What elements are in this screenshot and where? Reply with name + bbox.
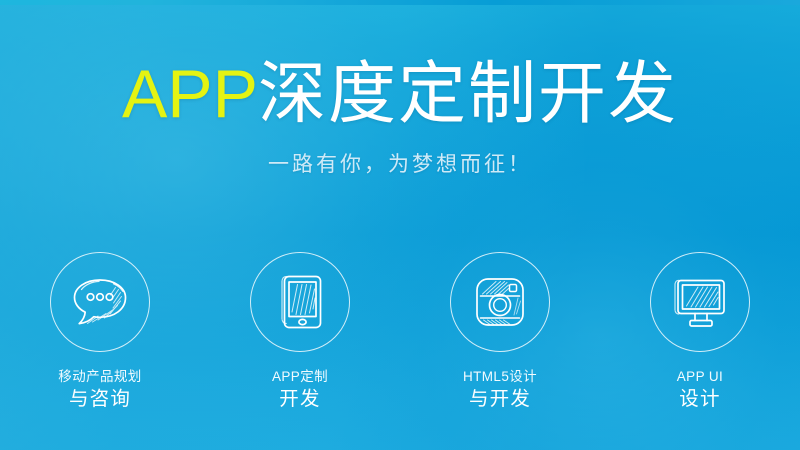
service-label-line2: 与咨询 bbox=[58, 386, 141, 412]
camera-icon bbox=[469, 271, 531, 333]
icon-circle bbox=[250, 252, 350, 352]
service-label-line1: 移动产品规划 bbox=[58, 367, 141, 386]
service-item-app-ui[interactable]: APP UI 设计 bbox=[600, 252, 800, 412]
icon-circle bbox=[50, 252, 150, 352]
service-label-line2: 与开发 bbox=[463, 386, 537, 412]
headline-accent: APP bbox=[122, 56, 258, 132]
subtitle: 一路有你，为梦想而征！ bbox=[0, 150, 800, 180]
service-label-line1: APP定制 bbox=[272, 367, 328, 386]
service-item-consulting[interactable]: 移动产品规划 与咨询 bbox=[0, 252, 200, 412]
service-labels: APP定制 开发 bbox=[272, 367, 328, 412]
service-label-line1: HTML5设计 bbox=[463, 367, 537, 386]
tablet-device-icon bbox=[272, 271, 328, 333]
headline: APP深度定制开发 bbox=[0, 56, 800, 132]
desktop-monitor-icon bbox=[668, 273, 732, 331]
service-labels: 移动产品规划 与咨询 bbox=[58, 367, 141, 412]
service-label-line2: 设计 bbox=[677, 386, 723, 412]
service-label-line2: 开发 bbox=[272, 386, 328, 412]
service-item-html5[interactable]: HTML5设计 与开发 bbox=[400, 252, 600, 412]
headline-main: 深度定制开发 bbox=[258, 56, 678, 132]
service-item-app-development[interactable]: APP定制 开发 bbox=[200, 252, 400, 412]
service-labels: APP UI 设计 bbox=[677, 367, 723, 412]
service-labels: HTML5设计 与开发 bbox=[463, 367, 537, 412]
services-row: 移动产品规划 与咨询 bbox=[0, 252, 800, 412]
background-top-strip bbox=[0, 0, 800, 5]
service-label-line1: APP UI bbox=[677, 367, 723, 386]
promo-banner: APP深度定制开发 一路有你，为梦想而征！ bbox=[0, 0, 800, 450]
speech-bubble-icon bbox=[69, 274, 131, 330]
icon-circle bbox=[650, 252, 750, 352]
icon-circle bbox=[450, 252, 550, 352]
